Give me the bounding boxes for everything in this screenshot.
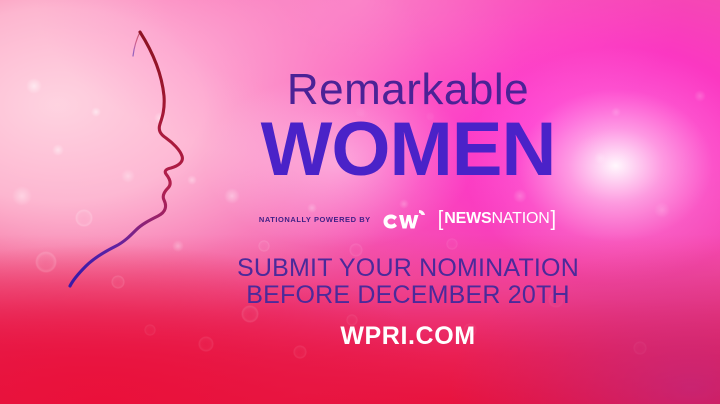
sponsor-logo-row: NATIONALLY POWERED BY [ NEWS NATION ] <box>198 209 618 229</box>
remarkable-women-promo-graphic: Remarkable WOMEN NATIONALLY POWERED BY [… <box>0 0 720 404</box>
nationally-powered-by-label: NATIONALLY POWERED BY <box>259 215 371 224</box>
cta-line-1: SUBMIT YOUR NOMINATION <box>178 255 638 282</box>
cta-line-2: BEFORE DECEMBER 20TH <box>178 282 638 309</box>
newsnation-word-nation: NATION <box>491 211 549 227</box>
website-url[interactable]: WPRI.COM <box>178 322 638 350</box>
call-to-action-text: SUBMIT YOUR NOMINATION BEFORE DECEMBER 2… <box>178 255 638 309</box>
newsnation-word-news: NEWS <box>444 211 491 227</box>
page-title-women: WOMEN <box>198 112 618 188</box>
newsnation-bracket-left: [ <box>437 211 445 228</box>
newsnation-logo: [ NEWS NATION ] <box>437 211 557 227</box>
page-title-remarkable: Remarkable <box>198 68 618 112</box>
newsnation-bracket-right: ] <box>550 211 558 228</box>
promo-text-lockup: Remarkable WOMEN NATIONALLY POWERED BY [… <box>198 0 618 404</box>
cw-network-logo <box>380 209 428 229</box>
